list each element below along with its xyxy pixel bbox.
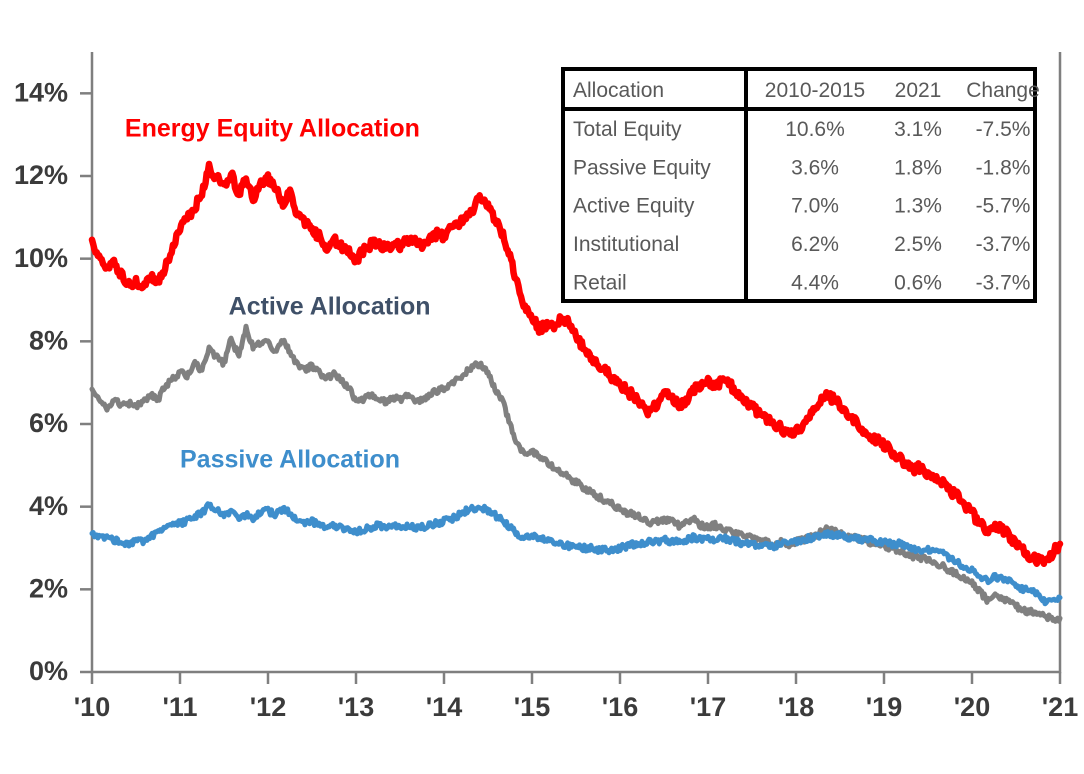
y-axis-label: 0% — [29, 656, 68, 686]
table-header-cell: Allocation — [573, 79, 664, 102]
table-row-value: 4.4% — [791, 271, 839, 294]
table-row-label: Retail — [573, 271, 627, 294]
table-row-label: Institutional — [573, 233, 679, 256]
chart-container: 0%2%4%6%8%10%12%14% '10'11'12'13'14'15'1… — [0, 0, 1084, 774]
x-axis-label: '16 — [602, 692, 638, 722]
table-row-value: 2.5% — [894, 233, 942, 256]
table-header-cell: 2010-2015 — [765, 79, 865, 102]
x-axis-label: '19 — [866, 692, 902, 722]
x-axis-label: '11 — [163, 692, 198, 722]
series-label-active-allocation: Active Allocation — [229, 292, 431, 320]
table-row-value: 1.3% — [894, 195, 942, 218]
table-row-value: 7.0% — [791, 195, 839, 218]
table-row-value: -1.8% — [976, 156, 1031, 179]
x-axis-label: '12 — [250, 692, 286, 722]
energy-equity-allocation-chart: 0%2%4%6%8%10%12%14% '10'11'12'13'14'15'1… — [0, 0, 1084, 774]
table-row-value: 0.6% — [894, 271, 942, 294]
table-row-label: Total Equity — [573, 118, 682, 141]
table-row-value: -7.5% — [976, 118, 1031, 141]
y-axis-label: 4% — [29, 491, 68, 521]
series-label-passive-allocation: Passive Allocation — [180, 445, 400, 473]
series-label-energy-equity-allocation: Energy Equity Allocation — [125, 115, 420, 143]
y-axis-label: 10% — [14, 243, 68, 273]
x-axis-label: '14 — [426, 692, 462, 722]
table-row-value: 3.6% — [791, 156, 839, 179]
x-axis-label: '21 — [1042, 692, 1078, 722]
table-row-value: 1.8% — [894, 156, 942, 179]
table-row-value: -3.7% — [976, 271, 1031, 294]
table-header-cell: Change — [966, 79, 1040, 102]
x-axis-label: '15 — [514, 692, 550, 722]
y-axis-label: 2% — [29, 573, 68, 603]
x-axis-label: '17 — [690, 692, 726, 722]
x-axis-label: '10 — [74, 692, 110, 722]
y-axis-label: 6% — [29, 408, 68, 438]
table-row-value: 6.2% — [791, 233, 839, 256]
y-axis-label: 8% — [29, 325, 68, 355]
table-row-value: -5.7% — [976, 195, 1031, 218]
table-row-value: -3.7% — [976, 233, 1031, 256]
y-axis-label: 12% — [14, 160, 68, 190]
table-row-label: Active Equity — [573, 195, 695, 218]
y-axis-label: 14% — [14, 77, 68, 107]
x-axis-label: '18 — [778, 692, 814, 722]
table-header-cell: 2021 — [895, 79, 942, 102]
table-row-label: Passive Equity — [573, 156, 711, 179]
x-axis-label: '13 — [338, 692, 374, 722]
x-axis-label: '20 — [954, 692, 990, 722]
table-row-value: 3.1% — [894, 118, 942, 141]
table-row-value: 10.6% — [785, 118, 845, 141]
